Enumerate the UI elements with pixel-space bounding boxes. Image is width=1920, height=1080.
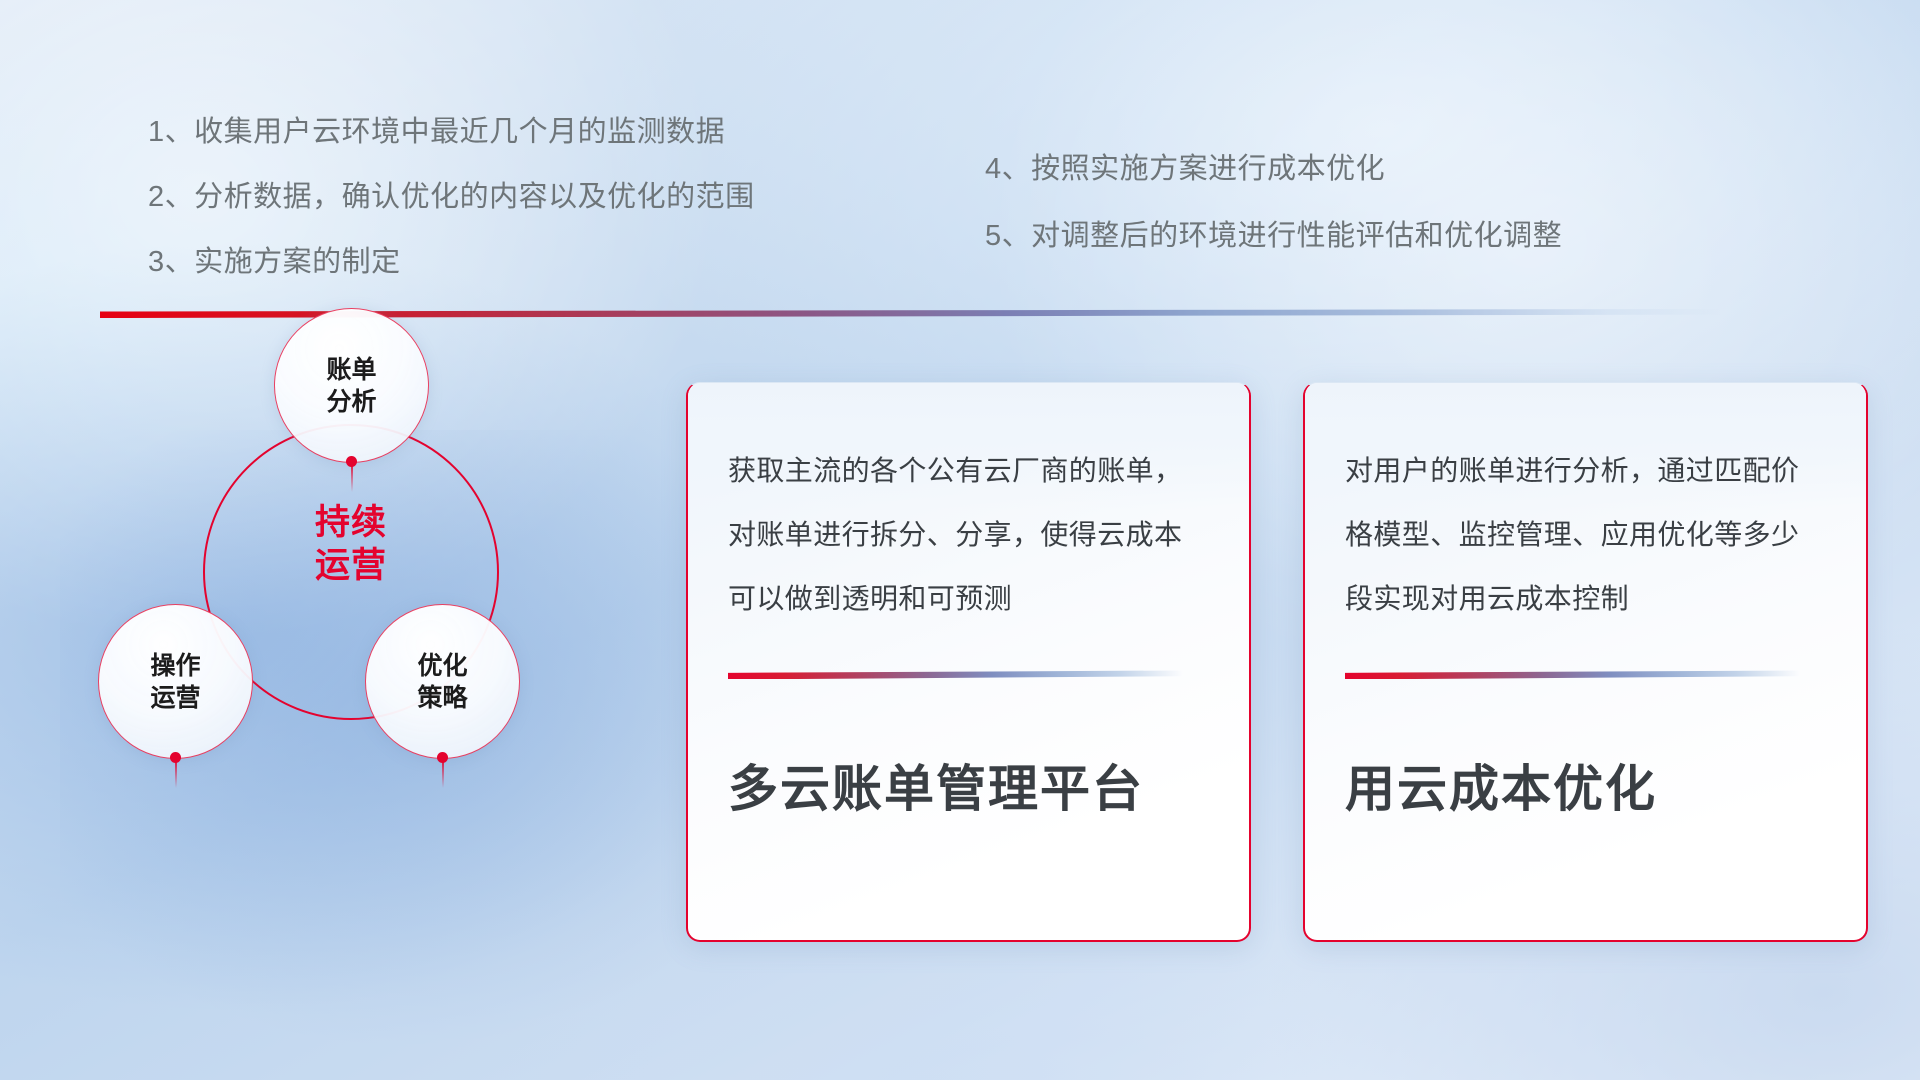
step-list-right: 4、按照实施方案进行成本优化 5、对调整后的环境进行性能评估和优化调整 bbox=[985, 155, 1562, 289]
bubble-left-line-1: 操作 bbox=[150, 650, 200, 682]
diagram-center-line-1: 持续 bbox=[203, 502, 499, 545]
slide-canvas: 1、收集用户云环境中最近几个月的监测数据 2、分析数据，确认优化的内容以及优化的… bbox=[0, 0, 1920, 1080]
diagram-bubble-operations[interactable]: 操作 运营 bbox=[98, 604, 253, 759]
diagram-node-stem-left bbox=[175, 762, 177, 788]
step-item-1: 1、收集用户云环境中最近几个月的监测数据 bbox=[148, 118, 755, 147]
feature-card-divider bbox=[728, 670, 1183, 679]
continuous-operation-diagram: 持续 运营 账单 分析 操作 运营 优化 策略 bbox=[80, 290, 640, 810]
feature-card-body: 对用户的账单进行分析，通过匹配价格模型、监控管理、应用优化等多少段实现对用云成本… bbox=[1345, 439, 1826, 630]
step-item-5: 5、对调整后的环境进行性能评估和优化调整 bbox=[985, 222, 1562, 251]
bubble-right-line-1: 优化 bbox=[417, 650, 467, 682]
diagram-node-stem-top bbox=[351, 466, 353, 492]
step-list-left: 1、收集用户云环境中最近几个月的监测数据 2、分析数据，确认优化的内容以及优化的… bbox=[148, 118, 755, 313]
step-item-2: 2、分析数据，确认优化的内容以及优化的范围 bbox=[148, 183, 755, 212]
diagram-node-stem-right bbox=[442, 762, 444, 788]
feature-card-divider-bar bbox=[728, 670, 1183, 679]
feature-card-title: 多云账单管理平台 bbox=[728, 749, 1209, 821]
bubble-top-line-2: 分析 bbox=[326, 386, 376, 418]
step-item-3: 3、实施方案的制定 bbox=[148, 248, 755, 277]
diagram-bubble-optimization-strategy[interactable]: 优化 策略 bbox=[365, 604, 520, 759]
diagram-center-label: 持续 运营 bbox=[203, 502, 499, 587]
diagram-bubble-bill-analysis[interactable]: 账单 分析 bbox=[274, 308, 429, 463]
step-item-4: 4、按照实施方案进行成本优化 bbox=[985, 155, 1562, 184]
feature-card-list: 获取主流的各个公有云厂商的账单，对账单进行拆分、分享，使得云成本可以做到透明和可… bbox=[686, 382, 1868, 942]
bubble-top-line-1: 账单 bbox=[326, 354, 376, 386]
feature-card-body: 获取主流的各个公有云厂商的账单，对账单进行拆分、分享，使得云成本可以做到透明和可… bbox=[728, 439, 1209, 630]
diagram-center-line-2: 运营 bbox=[203, 545, 499, 588]
bubble-left-line-2: 运营 bbox=[150, 682, 200, 714]
feature-card-multicloud-billing[interactable]: 获取主流的各个公有云厂商的账单，对账单进行拆分、分享，使得云成本可以做到透明和可… bbox=[686, 382, 1251, 942]
feature-card-cloud-cost-optimization[interactable]: 对用户的账单进行分析，通过匹配价格模型、监控管理、应用优化等多少段实现对用云成本… bbox=[1303, 382, 1868, 942]
feature-card-title: 用云成本优化 bbox=[1345, 749, 1826, 821]
feature-card-divider bbox=[1345, 670, 1800, 679]
feature-card-divider-bar bbox=[1345, 670, 1800, 679]
bubble-right-line-2: 策略 bbox=[417, 682, 467, 714]
